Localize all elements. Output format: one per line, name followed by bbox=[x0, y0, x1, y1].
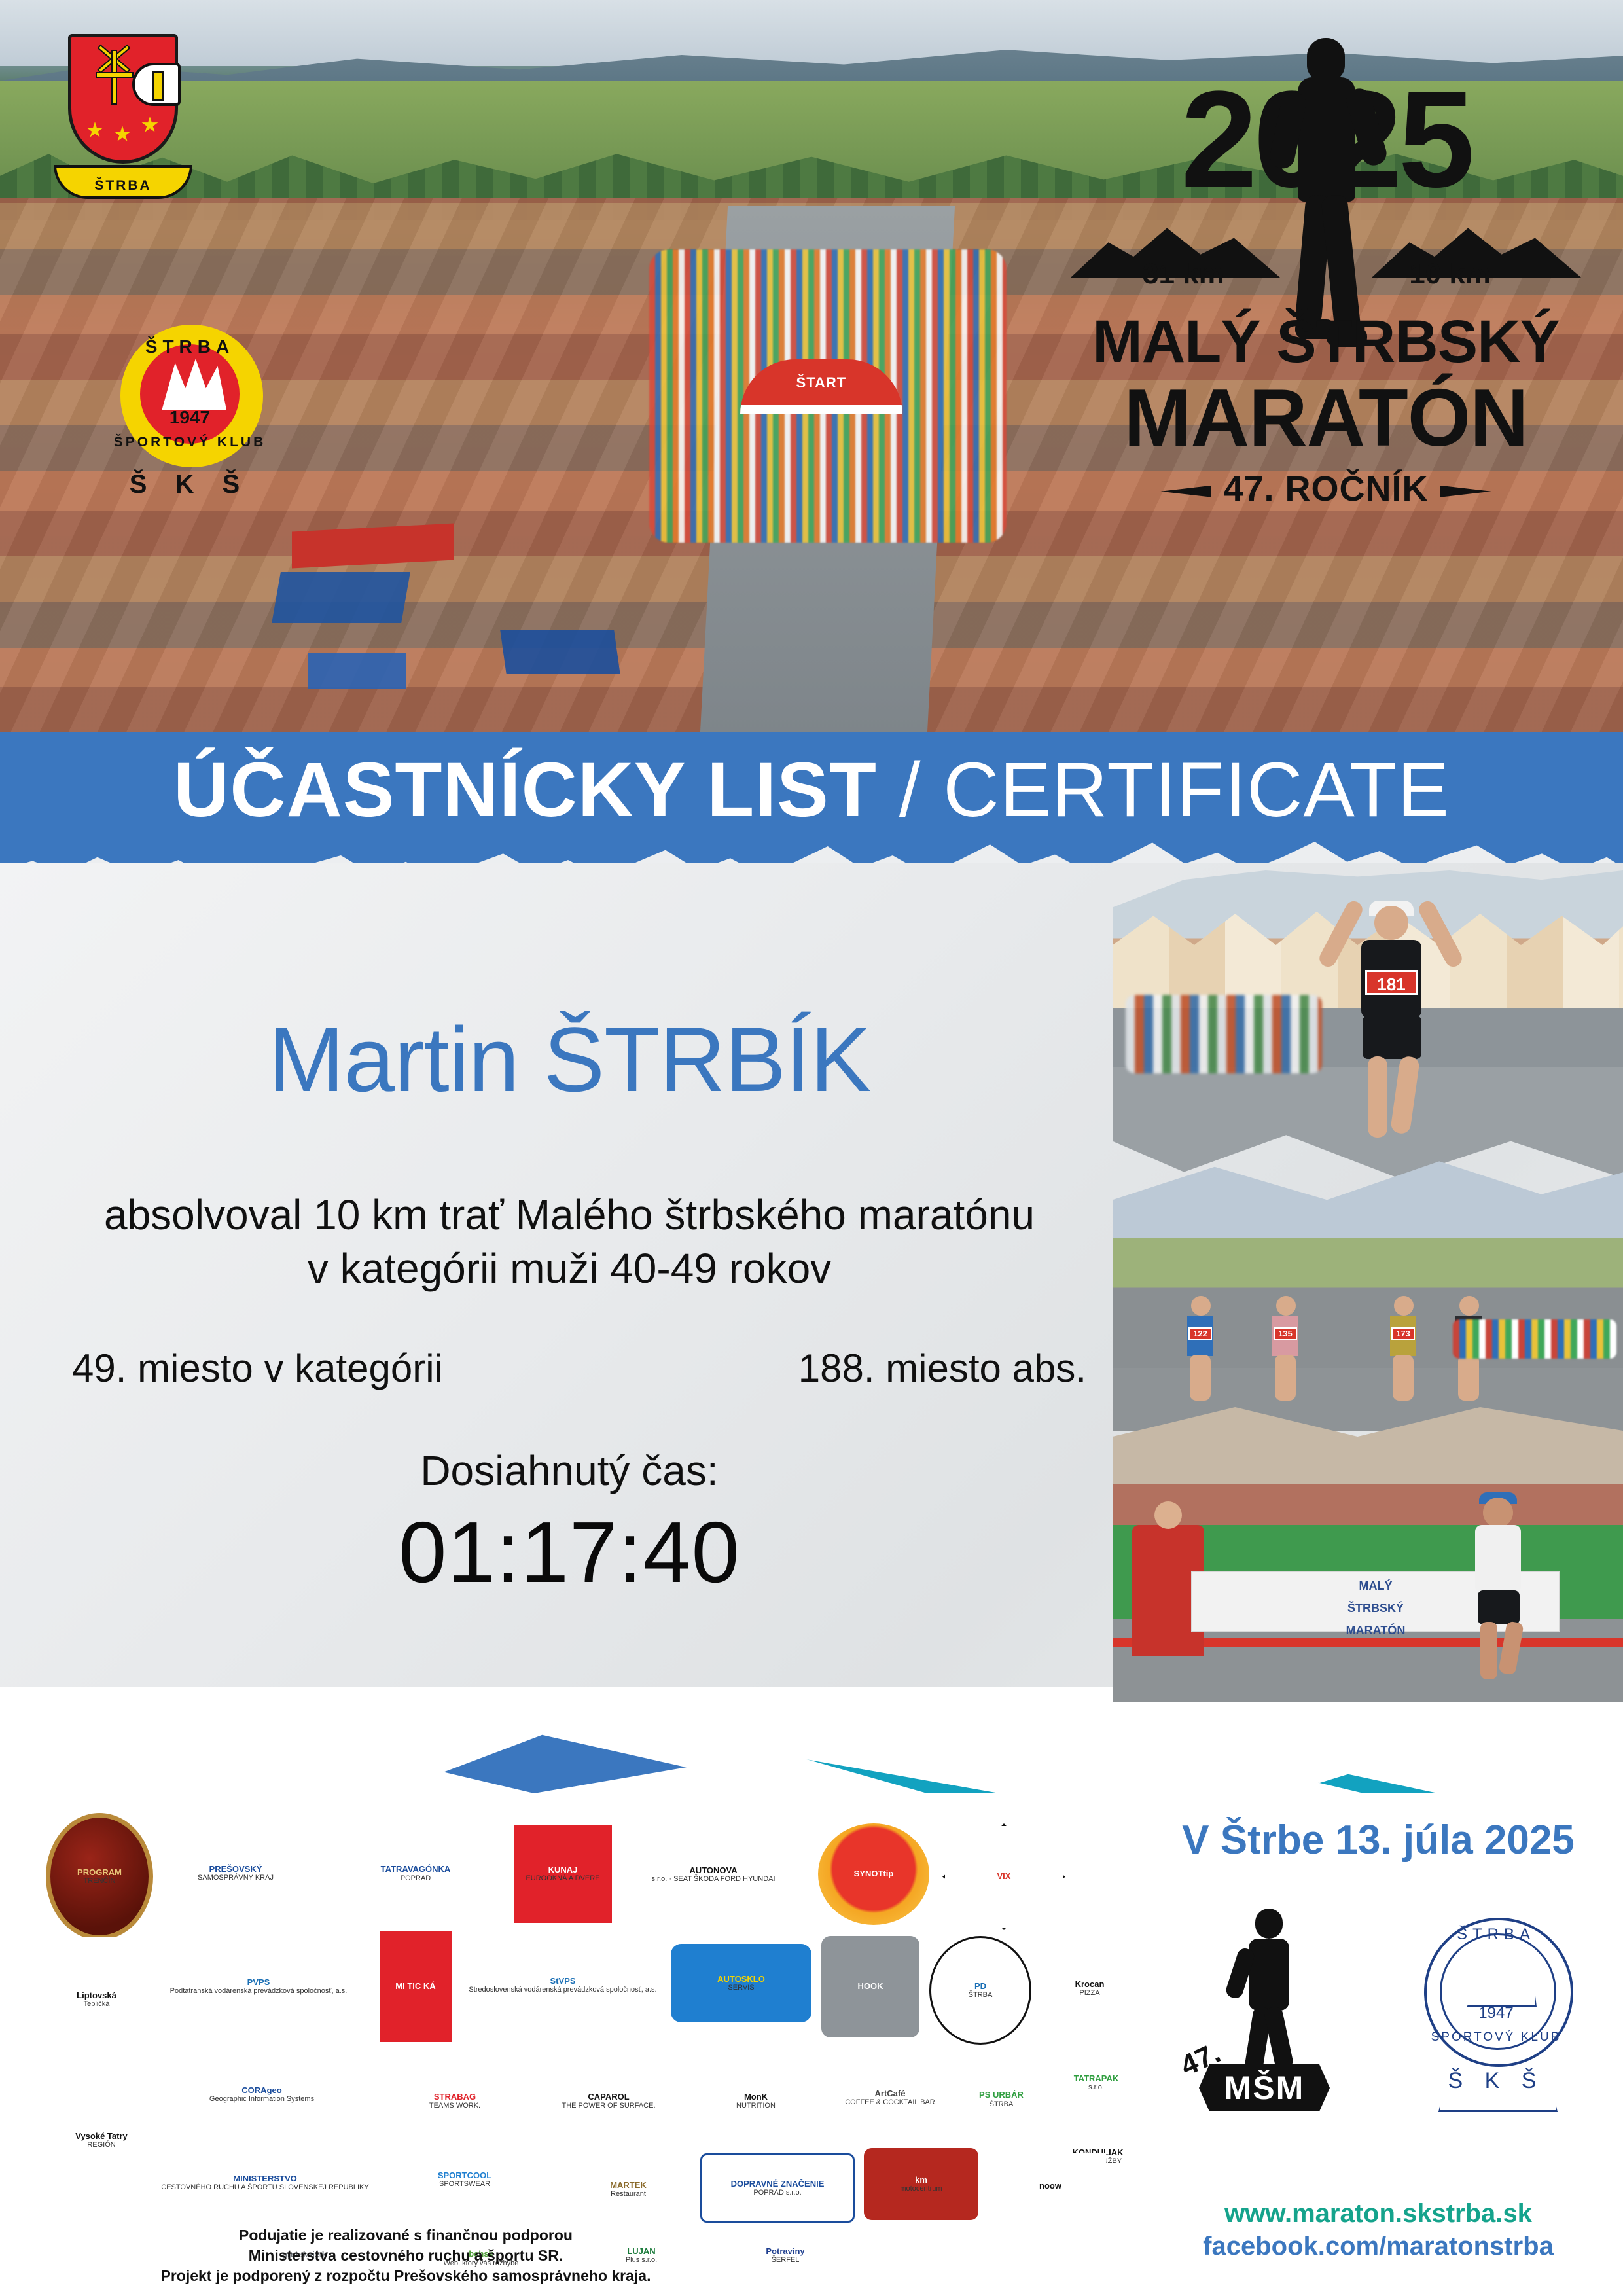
sponsor-logo: KrocanPIZZA bbox=[1034, 1936, 1145, 2041]
sponsor-tagline: COFFEE & COCKTAIL BAR bbox=[845, 2098, 935, 2106]
sponsor-name: SYNOTtip bbox=[854, 1869, 894, 1878]
sks-bottom-label: ŠPORTOVÝ KLUB bbox=[1404, 2030, 1588, 2045]
sponsor-logo: STRABAGTEAMS WORK. bbox=[380, 2062, 530, 2140]
photo2-bib-2: 135 bbox=[1274, 1327, 1297, 1340]
photo1-spectators bbox=[1126, 995, 1322, 1073]
photo-finisher-celebrating: 181 bbox=[1113, 870, 1623, 1178]
sponsor-tagline: TRENČÍN bbox=[84, 1877, 116, 1885]
sponsor-name: Krocan bbox=[1075, 1980, 1105, 1989]
sponsor-logo: DOPRAVNÉ ZNAČENIEPOPRAD s.r.o. bbox=[700, 2153, 855, 2223]
sks-abbrev-label: Š K Š bbox=[1404, 2068, 1588, 2094]
description-line-1: absolvoval 10 km trať Malého štrbského m… bbox=[0, 1189, 1139, 1242]
arrow-left-icon bbox=[1160, 486, 1211, 497]
footer-right-column: V Štrbe 13. júla 2025 47. MŠM ŠTRBA 1947… bbox=[1162, 1806, 1594, 2265]
sponsor-tagline: ŠTRBA bbox=[990, 2100, 1014, 2108]
funding-note-line-1: Podujatie je realizované s finančnou pod… bbox=[46, 2225, 766, 2246]
sponsor-logo: AUTONOVAs.r.o. · SEAT ŠKODA FORD HYUNDAI bbox=[622, 1822, 805, 1927]
sponsor-tagline: SAMOSPRÁVNY KRAJ bbox=[198, 1874, 274, 1882]
photo2-runner-pack bbox=[1453, 1319, 1616, 1359]
distance-row: 31 km 10 km bbox=[1064, 223, 1588, 295]
sponsor-logo: MonKNUTRITION bbox=[690, 2062, 821, 2140]
msm-abbrev-label: MŠM bbox=[1199, 2064, 1330, 2111]
sponsor-tagline: Podtatranská vodárenská prevádzková spol… bbox=[170, 1987, 348, 1995]
title-rest-part: / CERTIFICATE bbox=[877, 747, 1450, 833]
photo2-runner-1: 122 bbox=[1178, 1287, 1221, 1411]
brand-edition-label: 47. ROČNÍK bbox=[1223, 469, 1428, 509]
sponsor-logo: kmmotocentrum bbox=[864, 2148, 978, 2220]
finish-time-value: 01:17:40 bbox=[0, 1503, 1139, 1602]
hero-photo: ŠTART ŠTRBA ŠTRBA 1947 ŠPORTOVÝ KLUB Š K… bbox=[0, 0, 1623, 733]
sponsor-name: MonK bbox=[744, 2092, 768, 2102]
sponsor-name: km bbox=[915, 2176, 927, 2185]
photo2-runner-2: 135 bbox=[1263, 1287, 1306, 1411]
crest-ribbon-label: ŠTRBA bbox=[56, 178, 190, 194]
brand-line-2: MARATÓN bbox=[1064, 372, 1588, 465]
sponsor-logo: VIX bbox=[942, 1823, 1065, 1930]
sponsor-logo: TATRAVAGÓNKAPOPRAD bbox=[327, 1833, 504, 1914]
sponsor-logo: ArtCaféCOFFEE & COCKTAIL BAR bbox=[828, 2049, 952, 2147]
place-absolute: 188. miesto abs. bbox=[798, 1346, 1086, 1391]
sponsor-logo: StVPSStredoslovenská vodárenská prevádzk… bbox=[465, 1936, 661, 2034]
sponsor-tagline: motocentrum bbox=[900, 2185, 942, 2193]
sponsor-tagline: Tepličká bbox=[84, 2000, 110, 2008]
club-year-label: 1947 bbox=[106, 407, 274, 428]
sponsor-logo: CAPAROLTHE POWER OF SURFACE. bbox=[543, 2055, 674, 2147]
sponsor-name: MI TIC KÁ bbox=[395, 1982, 435, 1991]
blue-tent-2 bbox=[500, 630, 620, 674]
brand-edition-row: 47. ROČNÍK bbox=[1064, 469, 1588, 509]
sponsor-tagline: Stredoslovenská vodárenská prevádzková s… bbox=[469, 1986, 656, 1994]
certificate-text-column: Martin ŠTRBÍK absolvoval 10 km trať Malé… bbox=[0, 863, 1139, 1687]
sponsor-logo: MINISTERSTVOCESTOVNÉHO RUCHU A ŠPORTU SL… bbox=[160, 2140, 370, 2225]
blue-tent-3 bbox=[308, 653, 406, 689]
sponsor-name: CAPAROL bbox=[588, 2092, 629, 2102]
sponsor-logo: PROGRAMTRENČÍN bbox=[46, 1813, 153, 1940]
sponsor-logo: KUNAJEUROOKNÁ A DVERE bbox=[514, 1825, 612, 1923]
sponsor-name: TATRAVAGÓNKA bbox=[381, 1865, 451, 1874]
placement-row: 49. miesto v kategórii 188. miesto abs. bbox=[72, 1346, 1086, 1391]
sponsor-name: AUTONOVA bbox=[689, 1866, 737, 1875]
certificate-page: ŠTART ŠTRBA ŠTRBA 1947 ŠPORTOVÝ KLUB Š K… bbox=[0, 0, 1623, 2296]
sponsor-logo: PVPSPodtatranská vodárenská prevádzková … bbox=[151, 1937, 366, 2036]
sponsor-name: SPORTCOOL bbox=[438, 2171, 491, 2180]
sponsor-section: PROGRAMTRENČÍNPREŠOVSKÝSAMOSPRÁVNY KRAJT… bbox=[0, 1793, 1623, 2296]
sponsor-tagline: SPORTSWEAR bbox=[439, 2180, 490, 2188]
crest-cuff bbox=[152, 71, 164, 101]
sponsor-name: VIX bbox=[997, 1872, 1011, 1881]
crest-ribbon: ŠTRBA bbox=[54, 165, 192, 199]
photo2-runner-3: 173 bbox=[1381, 1287, 1424, 1411]
sponsor-tagline: SERVIS bbox=[728, 1984, 754, 1992]
club-abbrev-label: Š K Š bbox=[106, 470, 274, 499]
sponsor-tagline: TEAMS WORK. bbox=[429, 2102, 480, 2109]
sponsor-name: Liptovská bbox=[77, 1991, 116, 2000]
brand-line-1: MALÝ ŠTRBSKÝ bbox=[1064, 308, 1588, 376]
sponsor-tagline: Restaurant bbox=[611, 2190, 646, 2198]
website-url[interactable]: www.maraton.skstrba.sk bbox=[1162, 2199, 1594, 2229]
sponsor-name: PVPS bbox=[247, 1978, 270, 1987]
sponsor-name: ArtCafé bbox=[875, 2089, 906, 2098]
sponsor-tagline: REGIÓN bbox=[87, 2141, 115, 2149]
description-line-2: v kategórii muži 40-49 rokov bbox=[0, 1242, 1139, 1296]
sponsor-name: HOOK bbox=[858, 1982, 883, 1991]
page-title: ÚČASTNÍCKY LIST / CERTIFICATE bbox=[0, 751, 1623, 829]
sponsor-logo: TATRAPAKs.r.o. bbox=[1047, 2050, 1145, 2115]
sponsor-name: KUNAJ bbox=[548, 1865, 578, 1874]
participant-name: Martin ŠTRBÍK bbox=[0, 1007, 1139, 1113]
sponsor-logo: MI TIC KÁ bbox=[380, 1931, 452, 2042]
blue-tent-1 bbox=[272, 572, 410, 623]
sponsor-tagline: s.r.o. · SEAT ŠKODA FORD HYUNDAI bbox=[651, 1875, 775, 1883]
sponsor-tagline: POPRAD s.r.o. bbox=[753, 2189, 801, 2197]
sponsor-logo: AUTOSKLOSERVIS bbox=[671, 1944, 811, 2022]
certificate-description: absolvoval 10 km trať Malého štrbského m… bbox=[0, 1189, 1139, 1296]
sponsor-logo: PS URBÁRŠTRBA bbox=[959, 2049, 1044, 2150]
crest-stars-icon bbox=[84, 117, 165, 139]
sponsor-logo: HOOK bbox=[821, 1936, 919, 2037]
sponsor-name: Vysoké Tatry bbox=[75, 2132, 128, 2141]
strba-coat-of-arms: ŠTRBA bbox=[54, 34, 192, 204]
photo1-bib-number: 181 bbox=[1365, 970, 1418, 995]
sponsor-name: PD bbox=[974, 1982, 986, 1991]
sponsor-logo: SPORTCOOLSPORTSWEAR bbox=[386, 2144, 543, 2215]
sponsor-name: noow bbox=[1039, 2181, 1061, 2191]
sponsor-name: AUTOSKLO bbox=[717, 1975, 765, 1984]
sponsor-name: MARTEK bbox=[610, 2181, 647, 2190]
sponsor-tagline: CESTOVNÉHO RUCHU A ŠPORTU SLOVENSKEJ REP… bbox=[161, 2183, 368, 2191]
sponsor-tagline: ŠERFEL bbox=[772, 2256, 800, 2264]
crest-cross-icon bbox=[93, 50, 135, 105]
club-top-label: ŠTRBA bbox=[106, 336, 274, 357]
title-bold-part: ÚČASTNÍCKY LIST bbox=[173, 747, 877, 833]
sponsor-name: TATRAPAK bbox=[1074, 2074, 1119, 2083]
event-date: V Štrbe 13. júla 2025 bbox=[1162, 1817, 1594, 1863]
sponsor-name: STRABAG bbox=[434, 2092, 476, 2102]
sponsor-grid: PROGRAMTRENČÍNPREŠOVSKÝSAMOSPRÁVNY KRAJT… bbox=[46, 1813, 1145, 2219]
funding-note-line-2: Ministerstva cestovného ruchu a športu S… bbox=[46, 2246, 766, 2266]
msm-runner-icon bbox=[1229, 1909, 1308, 2072]
sponsor-name: PREŠOVSKÝ bbox=[209, 1865, 262, 1874]
sponsor-tagline: Geographic Information Systems bbox=[209, 2095, 314, 2103]
photo-collage: 181 122 135 173 MALÝ ŠTRBSKÝ MARATÓN bbox=[1113, 870, 1623, 1702]
funding-note: Podujatie je realizované s finančnou pod… bbox=[46, 2225, 766, 2286]
title-band: ÚČASTNÍCKY LIST / CERTIFICATE bbox=[0, 732, 1623, 863]
sports-club-logo: ŠTRBA 1947 ŠPORTOVÝ KLUB Š K Š bbox=[106, 325, 274, 594]
sponsor-logo: PREŠOVSKÝSAMOSPRÁVNY KRAJ bbox=[154, 1827, 317, 1919]
sponsor-name: CORAgeo bbox=[241, 2086, 281, 2095]
facebook-url[interactable]: facebook.com/maratonstrba bbox=[1162, 2232, 1594, 2261]
sponsor-tagline: NUTRITION bbox=[736, 2102, 776, 2109]
msm-logo: 47. MŠM bbox=[1179, 1905, 1349, 2114]
sponsor-logo: noow bbox=[995, 2153, 1106, 2219]
sponsor-name: MINISTERSTVO bbox=[233, 2174, 297, 2183]
distance-left-label: 31 km bbox=[1143, 258, 1224, 291]
sks-stamp-logo: ŠTRBA 1947 ŠPORTOVÝ KLUB Š K Š bbox=[1404, 1905, 1588, 2121]
finish-time-label: Dosiahnutý čas: bbox=[0, 1446, 1139, 1495]
distance-right-label: 10 km bbox=[1409, 258, 1491, 291]
sponsor-tagline: EUROOKNÁ A DVERE bbox=[526, 1874, 599, 1882]
arrow-right-icon bbox=[1440, 486, 1491, 497]
sponsor-logo: Vysoké TatryREGIÓN bbox=[46, 2075, 157, 2206]
sponsor-logo: LiptovskáTepličká bbox=[52, 1937, 141, 2062]
sks-top-label: ŠTRBA bbox=[1404, 1926, 1588, 1944]
sponsor-name: StVPS bbox=[550, 1977, 575, 1986]
sponsor-logo: CORAgeoGeographic Information Systems bbox=[167, 2055, 357, 2134]
sponsor-tagline: THE POWER OF SURFACE. bbox=[562, 2102, 655, 2109]
photo2-bib-3: 173 bbox=[1391, 1327, 1415, 1340]
sponsor-tagline: s.r.o. bbox=[1088, 2083, 1104, 2091]
photo2-bib-1: 122 bbox=[1188, 1327, 1212, 1340]
sponsor-tagline: ŠTRBA bbox=[969, 1991, 993, 1999]
start-arch-label: ŠTART bbox=[740, 374, 902, 391]
photo-runners-on-hill: 122 135 173 bbox=[1113, 1156, 1623, 1431]
funding-note-line-3: Projekt je podporený z rozpočtu Prešovsk… bbox=[46, 2266, 766, 2286]
sponsor-name: Potraviny bbox=[766, 2247, 804, 2256]
sks-year-label: 1947 bbox=[1404, 2004, 1588, 2022]
sponsor-logo: MARTEKRestaurant bbox=[569, 2153, 687, 2225]
sponsor-tagline: PIZZA bbox=[1079, 1989, 1099, 1997]
marathon-wordmark: 2025 31 km 10 km MALÝ ŠTRBSKÝ MARATÓN 47… bbox=[1064, 26, 1588, 602]
sponsor-name: DOPRAVNÉ ZNAČENIE bbox=[731, 2179, 825, 2189]
sponsor-tagline: POPRAD bbox=[401, 1874, 431, 1882]
sponsor-name: PS URBÁR bbox=[979, 2090, 1024, 2100]
sponsor-logo: PDŠTRBA bbox=[929, 1936, 1031, 2045]
place-in-category: 49. miesto v kategórii bbox=[72, 1346, 443, 1391]
club-bottom-label: ŠPORTOVÝ KLUB bbox=[106, 435, 274, 450]
photo1-runner: 181 bbox=[1329, 894, 1453, 1156]
sponsor-logo: SYNOTtip bbox=[818, 1823, 929, 1925]
sponsor-name: PROGRAM bbox=[77, 1868, 122, 1877]
